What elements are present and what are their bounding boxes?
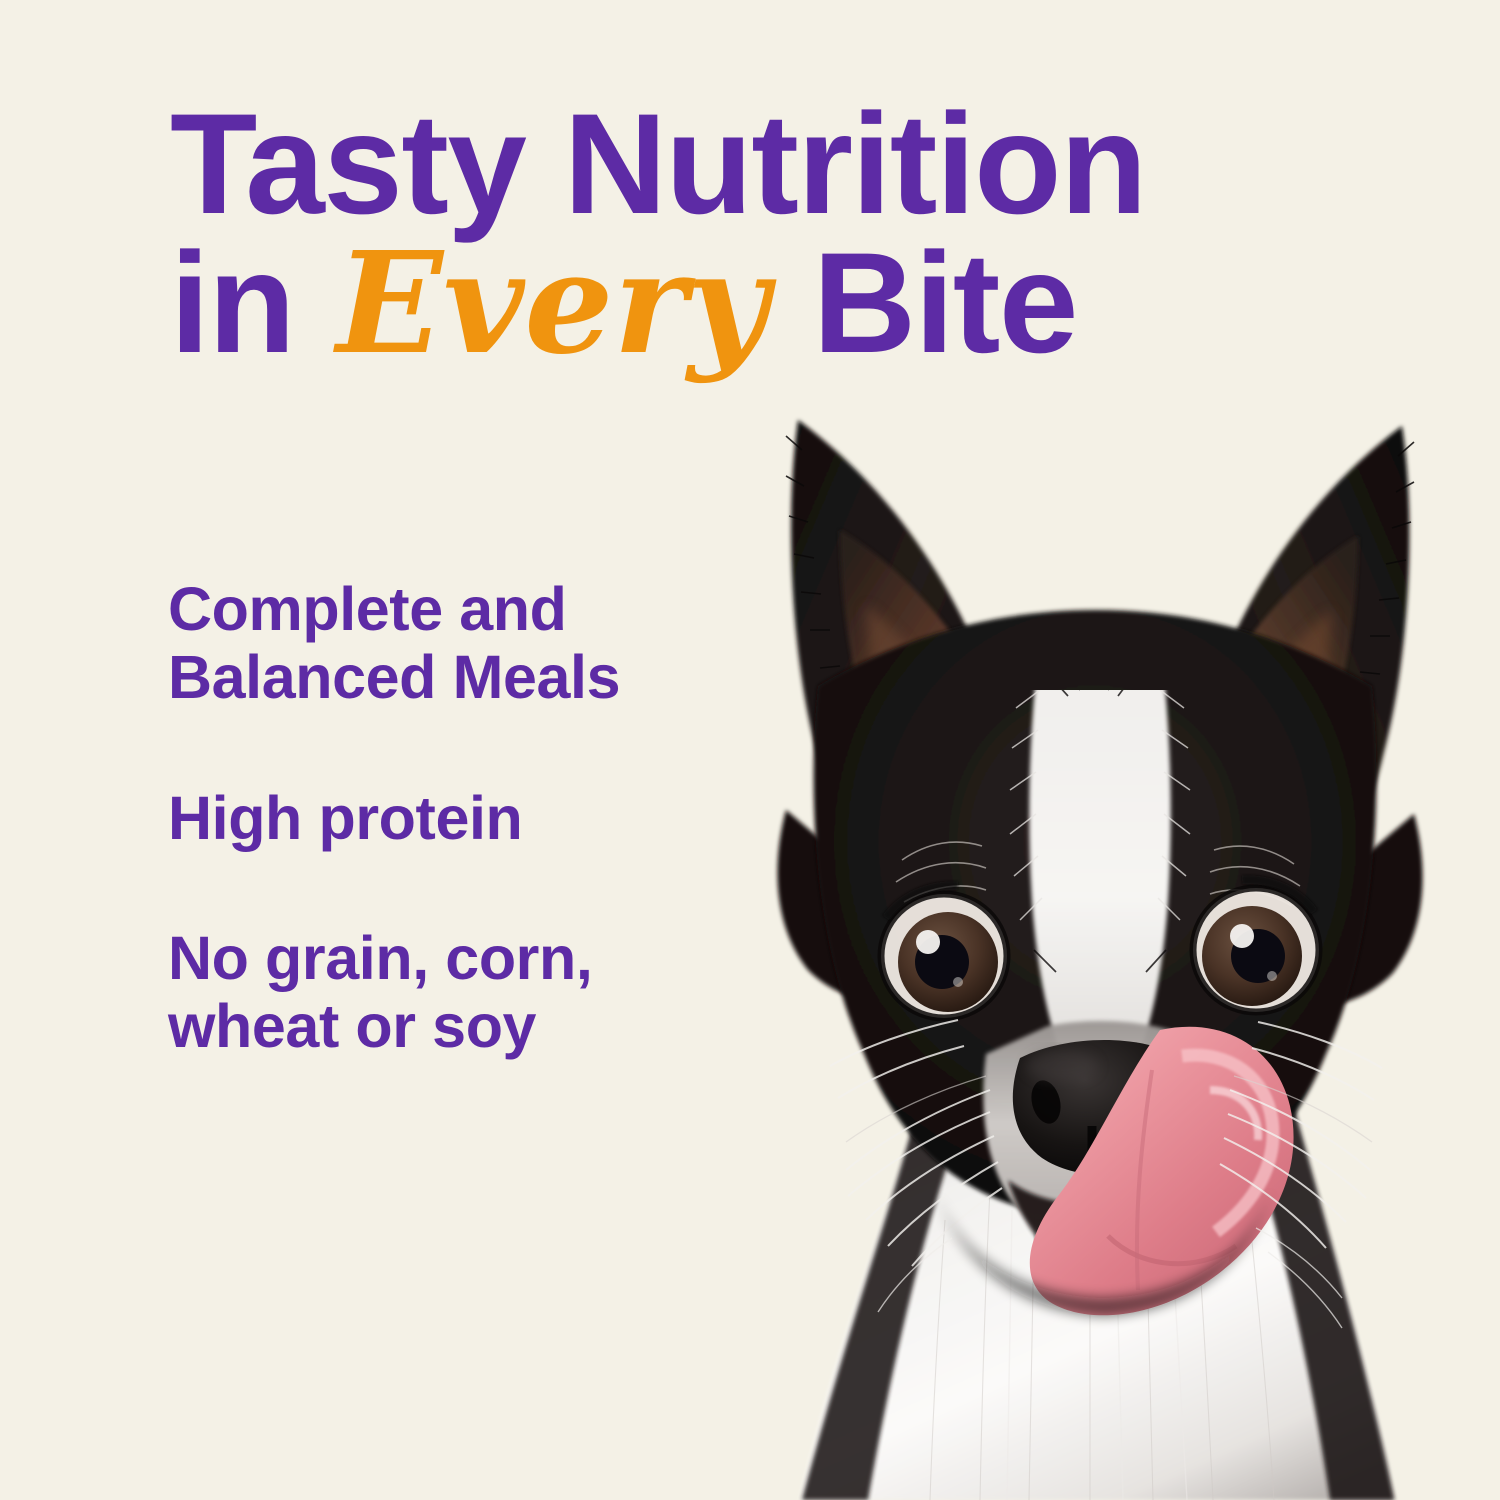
bullet-no-grain-corn-wheat-or-soy: No grain, corn, wheat or soy	[168, 924, 728, 1061]
dog-chest	[800, 1090, 1395, 1500]
dog-ear-lobe-right	[1278, 814, 1423, 1007]
dog-tongue	[1030, 1027, 1294, 1316]
dog-ear-lobe-left	[777, 810, 922, 1003]
dog-eye-right	[1193, 880, 1319, 1012]
page-title: Tasty Nutrition in Every Bite	[170, 96, 1320, 373]
bullet-text-line: No grain, corn,	[168, 924, 728, 992]
bullet-text-line: Balanced Meals	[168, 643, 728, 711]
headline-emphasis-every: Every	[332, 222, 774, 386]
feature-bullet-list: Complete and Balanced Meals High protein…	[168, 575, 728, 1061]
bullet-high-protein: High protein	[168, 784, 728, 852]
dog-nose	[1013, 1040, 1194, 1175]
product-feature-poster: Tasty Nutrition in Every Bite Complete a…	[0, 0, 1500, 1500]
bullet-text-line: Complete and	[168, 575, 728, 643]
dog-mouth	[1008, 1180, 1208, 1280]
headline-line-2-before: in	[170, 224, 332, 383]
bullet-complete-and-balanced-meals: Complete and Balanced Meals	[168, 575, 728, 712]
headline-line-2: in Every Bite	[170, 235, 1320, 374]
bullet-text-line: High protein	[168, 784, 728, 852]
dog-ear-left	[786, 420, 1008, 930]
boston-terrier-illustration	[690, 390, 1500, 1500]
dog-photo	[690, 390, 1500, 1500]
dog-neck-hairs	[878, 1228, 1342, 1328]
dog-chin-shadow	[936, 1190, 1272, 1316]
dog-head	[814, 610, 1382, 1315]
headline-line-2-after: Bite	[775, 224, 1077, 383]
bullet-text-line: wheat or soy	[168, 992, 728, 1060]
dog-whiskers	[830, 1020, 1382, 1266]
dog-ear-right	[1196, 426, 1414, 928]
dog-eye-left	[881, 886, 1007, 1018]
headline-line-1: Tasty Nutrition	[170, 96, 1320, 235]
dog-muzzle	[983, 1021, 1228, 1249]
